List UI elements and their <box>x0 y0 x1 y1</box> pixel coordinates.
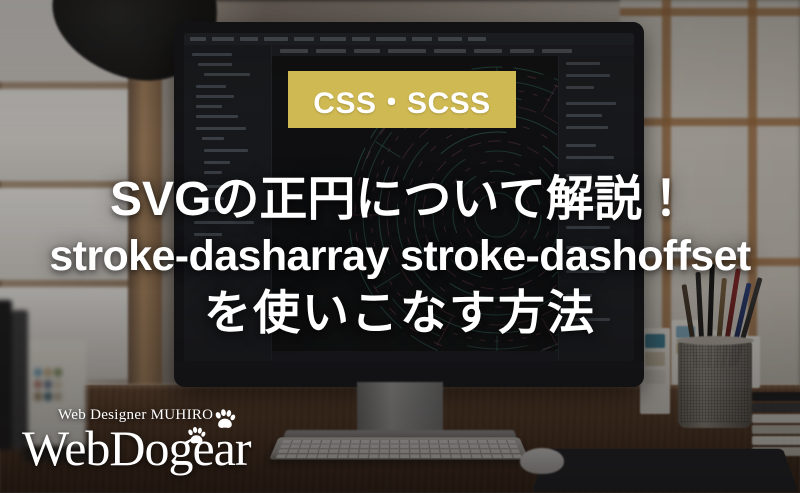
title-line-3: を使いこなす方法 <box>0 284 800 342</box>
page-title: SVGの正円について解説！ stroke-dasharray stroke-da… <box>0 172 800 343</box>
paw-print-icon <box>185 425 207 447</box>
overlay-content: CSS・SCSS SVGの正円について解説！ stroke-dasharray … <box>0 0 800 493</box>
title-line-1: SVGの正円について解説！ <box>0 172 800 228</box>
category-badge: CSS・SCSS <box>288 71 516 128</box>
category-badge-label: CSS・SCSS <box>313 78 490 122</box>
paw-print-icon <box>212 407 237 432</box>
title-line-2: stroke-dasharray stroke-dashoffset <box>0 228 800 285</box>
site-logo[interactable]: Web Designer MUHIRO WebDogear <box>22 405 237 479</box>
thumbnail-card: CSS・SCSS SVGの正円について解説！ stroke-dasharray … <box>0 0 800 493</box>
